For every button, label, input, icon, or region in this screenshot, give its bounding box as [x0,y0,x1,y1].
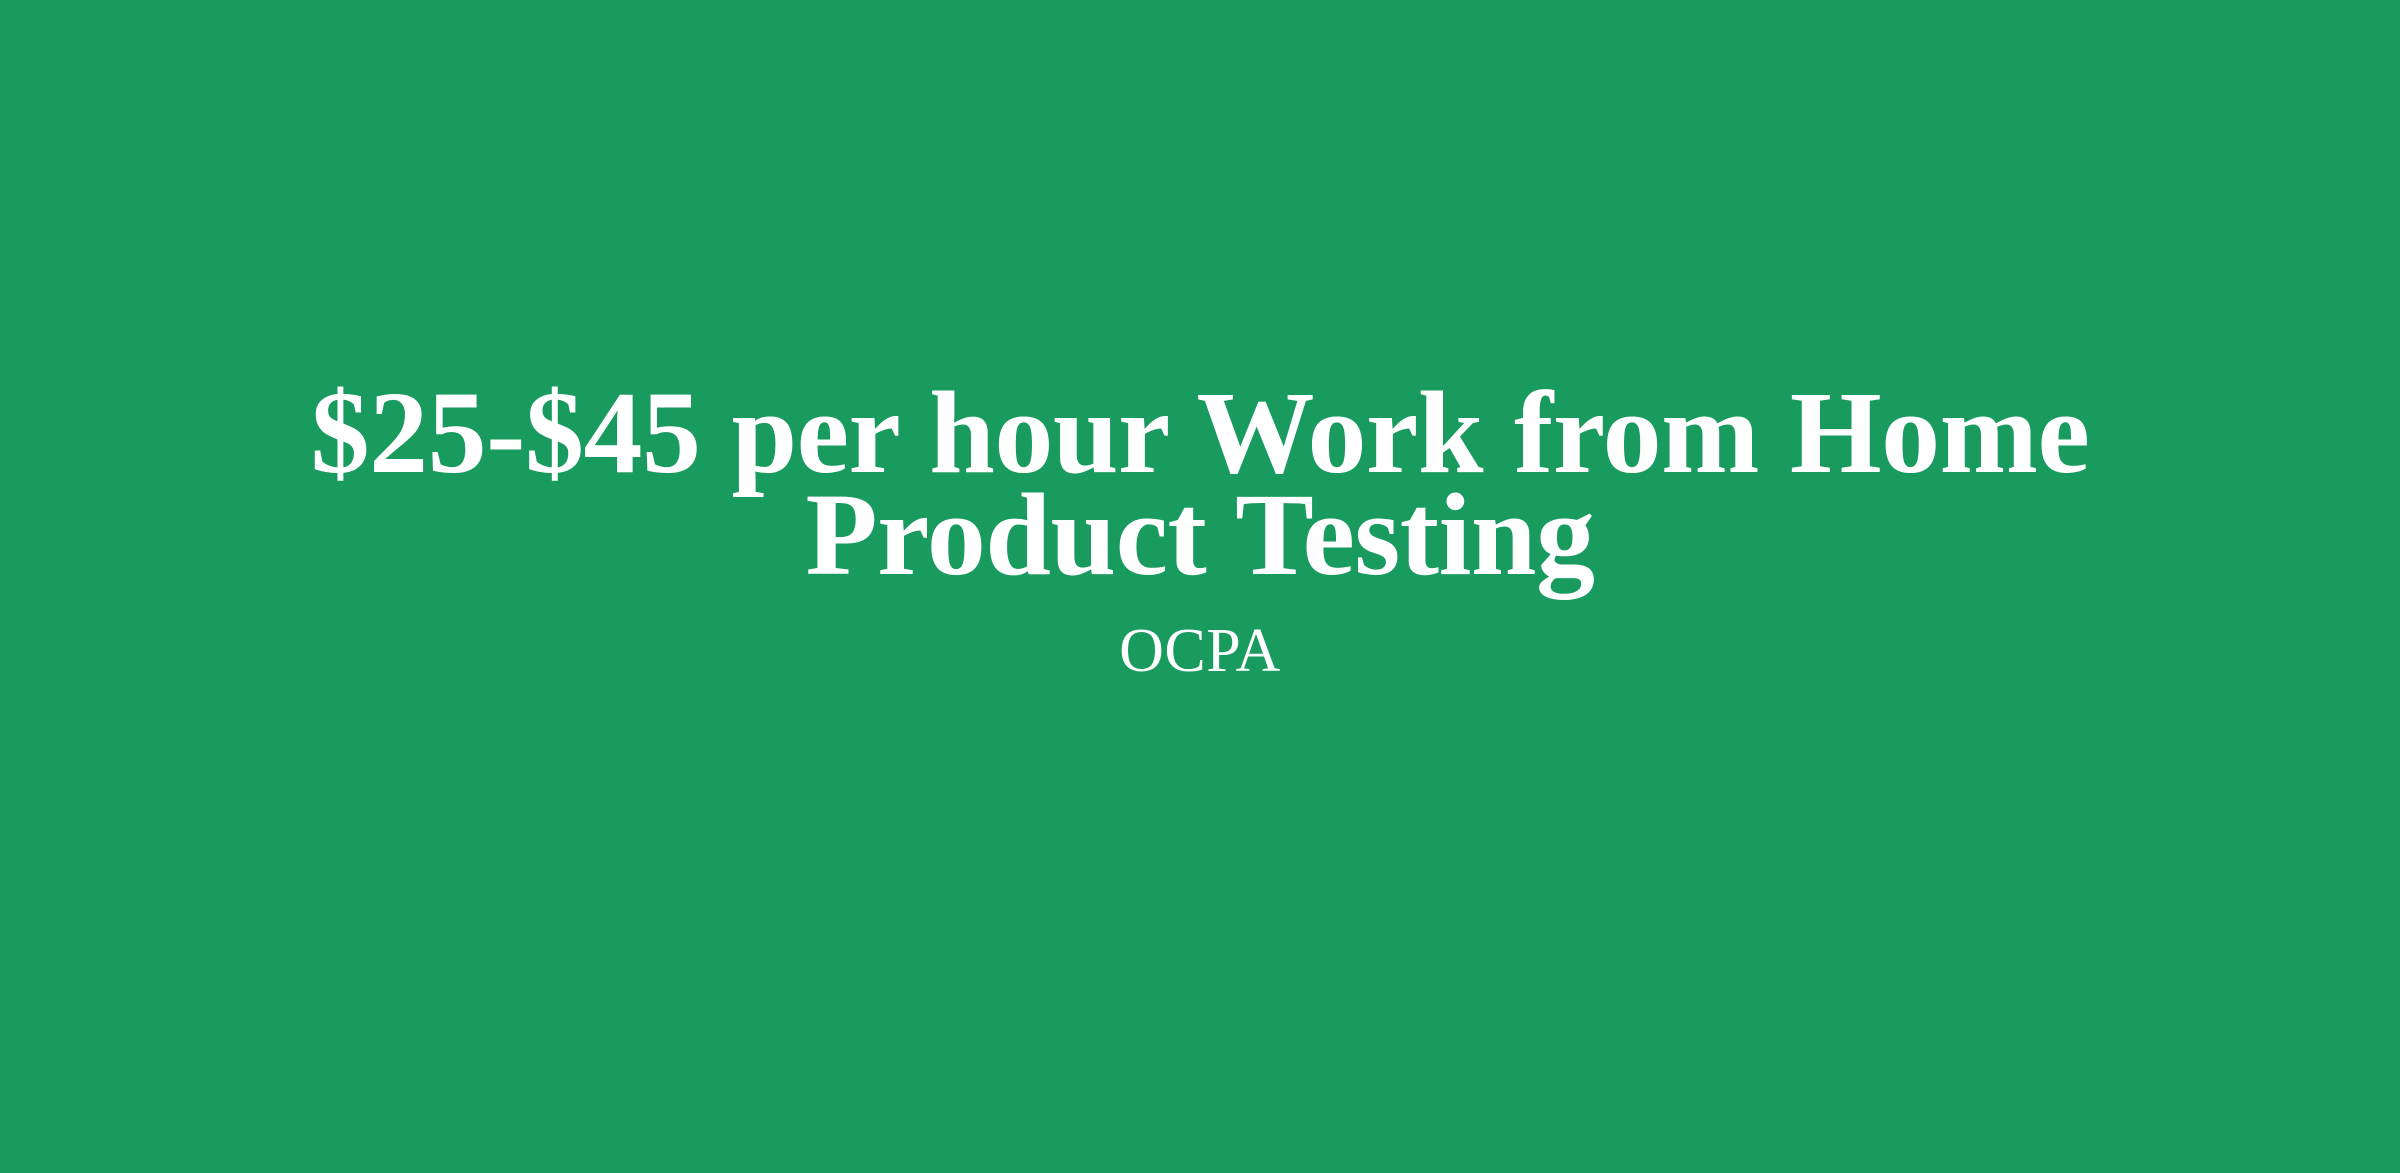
link-preview-card: $25-$45 per hour Work from Home Product … [0,0,2400,1173]
card-subtitle: OCPA [290,586,2110,686]
card-headline: $25-$45 per hour Work from Home Product … [290,382,2110,586]
card-text-block: $25-$45 per hour Work from Home Product … [290,382,2110,686]
